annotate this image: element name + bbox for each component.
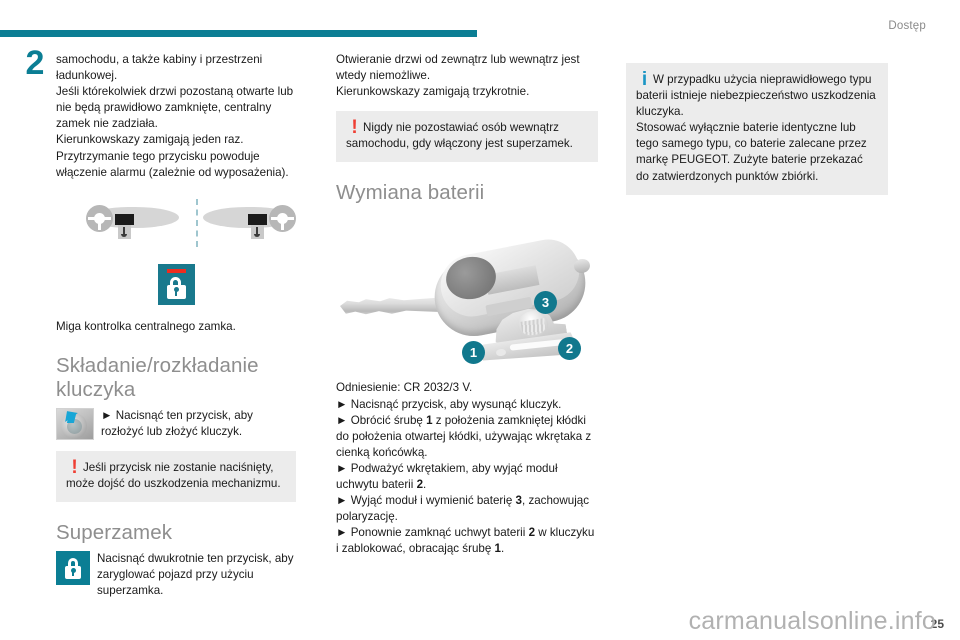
callout-info-text: W przypadku użycia nieprawidłowego typu … — [636, 72, 878, 185]
dashboard-left-hand-drive — [85, 205, 181, 235]
button-callout-pointer — [251, 225, 264, 239]
content-column-1: samochodu, a także kabiny i przestrzeni … — [56, 52, 296, 600]
key-fold-instruction-row: ► Nacisnąć ten przycisk, aby rozłożyć lu… — [56, 408, 296, 440]
section-title-key-fold: Składanie/rozkładanie kluczyka — [56, 354, 296, 402]
header-rule — [0, 30, 477, 37]
steering-wheel-icon — [86, 205, 113, 232]
info-icon: i — [636, 72, 653, 87]
lamp-caption: Miga kontrolka centralnego zamka. — [56, 319, 296, 335]
battery-step-1: ► Nacisnąć przycisk, aby wysunąć kluczyk… — [336, 397, 598, 413]
figure-key-exploded-view: 1 2 3 — [336, 215, 598, 373]
battery-reference: Odniesienie: CR 2032/3 V. — [336, 380, 598, 396]
figure-divider — [196, 199, 198, 247]
warning-icon: ! — [66, 460, 83, 475]
padlock-warning-lamp-icon — [158, 264, 195, 305]
page-header-title: Dostęp — [888, 20, 926, 32]
superlock-instruction-row: Nacisnąć dwukrotnie ten przycisk, aby za… — [56, 551, 296, 599]
callout-info-battery-type: i W przypadku użycia nieprawidłowego typ… — [626, 63, 888, 195]
battery-step-3: ► Podważyć wkrętakiem, aby wyjąć moduł u… — [336, 461, 598, 493]
red-indicator-bar — [167, 269, 186, 273]
battery-step-4: ► Wyjąć moduł i wymienić baterię 3, zach… — [336, 493, 598, 525]
section-title-superlock: Superzamek — [56, 521, 296, 545]
content-column-2: Otwieranie drzwi od zewnątrz lub wewnątr… — [336, 52, 598, 558]
callout-warning-key-fold: ! Jeśli przycisk nie zostanie naciśnięty… — [56, 451, 296, 502]
callout-warning-text: Nigdy nie pozostawiać osób wewnątrz samo… — [346, 120, 588, 152]
callout-warning-superlock: ! Nigdy nie pozostawiać osób wewnątrz sa… — [336, 111, 598, 162]
central-locking-button — [248, 214, 267, 225]
callout-warning-text: Jeśli przycisk nie zostanie naciśnięty, … — [66, 460, 286, 492]
callout-number-1: 1 — [462, 341, 485, 364]
chapter-number: 2 — [20, 46, 50, 80]
button-callout-pointer — [118, 225, 131, 239]
content-column-3: i W przypadku użycia nieprawidłowego typ… — [626, 52, 888, 195]
battery-step-2: ► Obrócić śrubę 1 z położenia zamkniętej… — [336, 413, 598, 461]
battery-step-5: ► Ponownie zamknąć uchwyt baterii 2 w kl… — [336, 525, 598, 557]
figure-dashboard-lhd-rhd — [56, 199, 296, 247]
section-title-battery-change: Wymiana baterii — [336, 181, 598, 205]
watermark: carmanualsonline.info — [689, 607, 936, 636]
dashboard-right-hand-drive — [201, 205, 297, 235]
superlock-bullet: Nacisnąć dwukrotnie ten przycisk, aby za… — [97, 551, 296, 599]
col1-intro-paragraph: samochodu, a także kabiny i przestrzeni … — [56, 52, 296, 181]
callout-number-2: 2 — [558, 337, 581, 360]
steering-wheel-icon — [269, 205, 296, 232]
key-fold-bullet: ► Nacisnąć ten przycisk, aby rozłożyć lu… — [101, 408, 296, 440]
central-locking-button — [115, 214, 134, 225]
figure-central-locking-lamp — [56, 264, 296, 305]
key-fold-button-photo-icon — [56, 408, 94, 440]
col2-intro-paragraph: Otwieranie drzwi od zewnątrz lub wewnątr… — [336, 52, 598, 100]
padlock-button-icon — [56, 551, 90, 585]
warning-icon: ! — [346, 120, 363, 135]
